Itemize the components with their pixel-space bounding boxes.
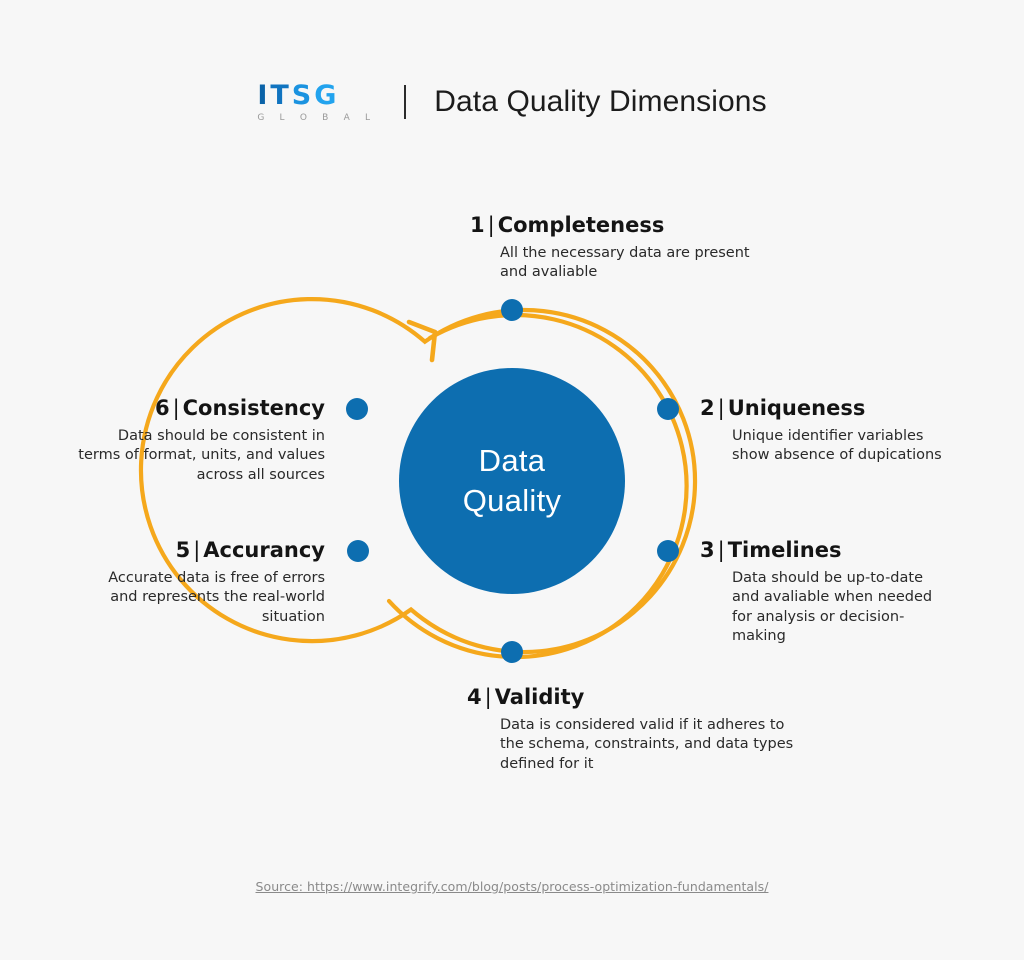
dimension-heading: 1|Completeness bbox=[470, 213, 770, 237]
dimension-separator: | bbox=[170, 396, 183, 420]
logo-letter-g: G bbox=[314, 82, 339, 109]
center-label-line2: Quality bbox=[463, 481, 562, 521]
dimension-number: 2 bbox=[700, 396, 715, 420]
dimension-separator: | bbox=[482, 685, 495, 709]
dimension-item-consistency: 6|Consistency Data should be consistent … bbox=[78, 396, 325, 485]
cycle-arrowhead-icon bbox=[409, 322, 435, 360]
dimension-heading: 5|Accurancy bbox=[95, 538, 325, 562]
dimension-heading: 3|Timelines bbox=[700, 538, 950, 562]
center-circle: Data Quality bbox=[399, 368, 625, 594]
logo-letter-i: I bbox=[257, 82, 270, 109]
dimension-item-validity: 4|Validity Data is considered valid if i… bbox=[467, 685, 797, 774]
dimension-number: 3 bbox=[700, 538, 715, 562]
node-dot-uniqueness[interactable] bbox=[657, 398, 679, 420]
logo-letter-t: T bbox=[270, 82, 291, 109]
dimension-title: Completeness bbox=[498, 213, 665, 237]
dimension-description: Data is considered valid if it adheres t… bbox=[467, 716, 797, 774]
node-dot-accurancy[interactable] bbox=[347, 540, 369, 562]
dimension-separator: | bbox=[485, 213, 498, 237]
dimension-item-timelines: 3|Timelines Data should be up-to-date an… bbox=[700, 538, 950, 646]
dimension-title: Accurancy bbox=[203, 538, 325, 562]
dimension-item-accurancy: 5|Accurancy Accurate data is free of err… bbox=[95, 538, 325, 627]
dimension-title: Consistency bbox=[183, 396, 325, 420]
node-dot-timelines[interactable] bbox=[657, 540, 679, 562]
dimension-number: 6 bbox=[155, 396, 170, 420]
node-dot-consistency[interactable] bbox=[346, 398, 368, 420]
dimension-number: 5 bbox=[176, 538, 191, 562]
dimension-number: 4 bbox=[467, 685, 482, 709]
dimension-description: Accurate data is free of errors and repr… bbox=[95, 569, 325, 627]
source-link[interactable]: Source: https://www.integrify.com/blog/p… bbox=[0, 879, 1024, 894]
dimension-heading: 6|Consistency bbox=[78, 396, 325, 420]
header-divider bbox=[404, 85, 406, 119]
center-label-line1: Data bbox=[479, 441, 546, 481]
dimension-heading: 4|Validity bbox=[467, 685, 797, 709]
dimension-item-completeness: 1|Completeness All the necessary data ar… bbox=[470, 213, 770, 283]
logo-letter-s: S bbox=[292, 82, 314, 109]
node-dot-completeness[interactable] bbox=[501, 299, 523, 321]
dimension-separator: | bbox=[190, 538, 203, 562]
infographic-canvas: ITSG G L O B A L Data Quality Dimensions… bbox=[0, 0, 1024, 960]
page-title: Data Quality Dimensions bbox=[434, 85, 766, 119]
node-dot-validity[interactable] bbox=[501, 641, 523, 663]
dimension-description: Data should be up-to-date and avaliable … bbox=[700, 569, 950, 646]
dimension-heading: 2|Uniqueness bbox=[700, 396, 950, 420]
dimension-separator: | bbox=[715, 538, 728, 562]
logo-wordmark: ITSG bbox=[257, 82, 339, 109]
dimension-title: Validity bbox=[495, 685, 585, 709]
dimension-description: Data should be consistent in terms of fo… bbox=[78, 427, 325, 485]
dimension-separator: | bbox=[715, 396, 728, 420]
dimension-title: Timelines bbox=[728, 538, 842, 562]
dimension-description: Unique identifier variables show absence… bbox=[700, 427, 950, 466]
dimension-item-uniqueness: 2|Uniqueness Unique identifier variables… bbox=[700, 396, 950, 466]
logo-subtitle: G L O B A L bbox=[257, 114, 376, 123]
dimension-description: All the necessary data are present and a… bbox=[470, 244, 770, 283]
itsg-logo: ITSG G L O B A L bbox=[257, 80, 376, 123]
header: ITSG G L O B A L Data Quality Dimensions bbox=[0, 80, 1024, 123]
dimension-title: Uniqueness bbox=[728, 396, 866, 420]
dimension-number: 1 bbox=[470, 213, 485, 237]
